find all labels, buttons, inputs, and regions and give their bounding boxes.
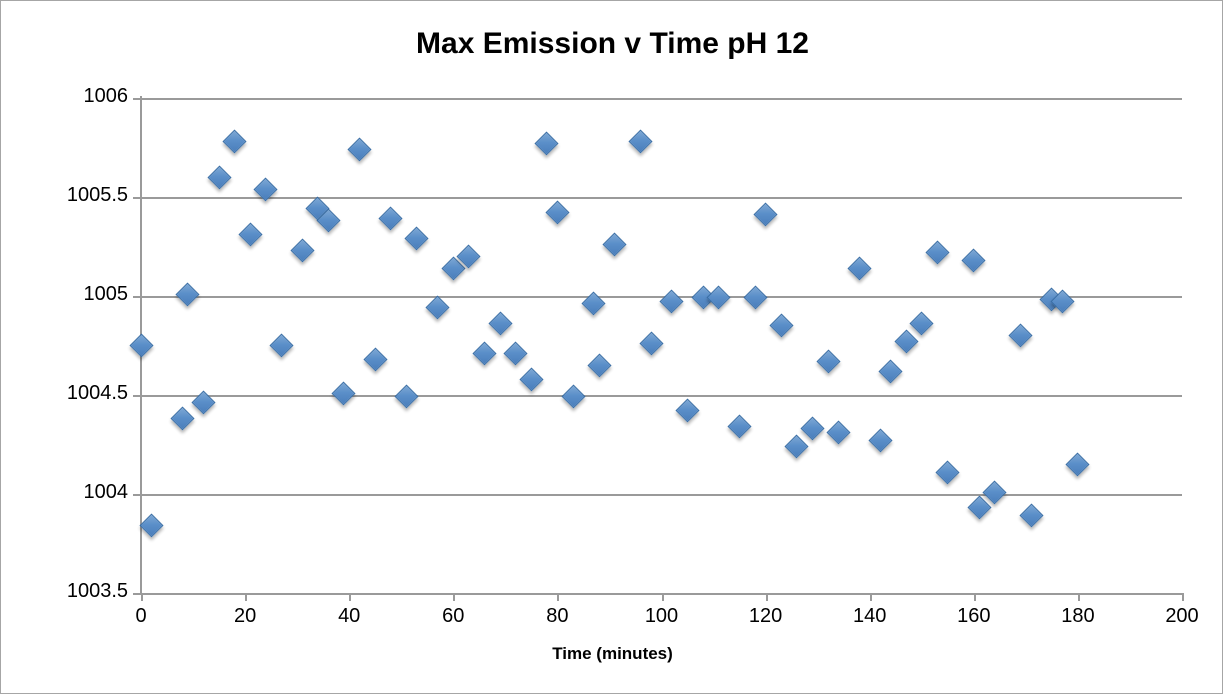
chart-container: Max Emission v Time pH 12 Emission Time … <box>0 0 1223 694</box>
y-axis-tick <box>133 296 141 298</box>
x-axis-tick-label: 180 <box>1038 605 1118 628</box>
x-axis-tick-label: 160 <box>934 605 1014 628</box>
data-point-marker <box>561 385 585 409</box>
x-axis-tick <box>141 593 143 601</box>
data-point-marker <box>603 232 627 256</box>
data-point-marker <box>910 312 934 336</box>
data-point-marker <box>363 347 387 371</box>
data-point-marker <box>868 429 892 453</box>
data-point-marker <box>728 415 752 439</box>
x-axis-tick-label: 40 <box>309 605 389 628</box>
y-axis-tick-label: 1006 <box>18 85 128 108</box>
data-point-marker <box>207 165 231 189</box>
gridline-horizontal <box>141 98 1182 100</box>
plot-area <box>141 98 1182 593</box>
data-point-marker <box>894 330 918 354</box>
data-point-marker <box>847 256 871 280</box>
data-point-marker <box>405 227 429 251</box>
data-point-marker <box>1019 504 1043 528</box>
data-point-marker <box>488 312 512 336</box>
x-axis-tick-label: 100 <box>622 605 702 628</box>
data-point-marker <box>519 367 543 391</box>
x-axis-tick <box>766 593 768 601</box>
x-axis-tick <box>662 593 664 601</box>
x-axis-tick <box>349 593 351 601</box>
y-axis-tick-label: 1003.5 <box>18 580 128 603</box>
y-axis-tick <box>133 593 141 595</box>
chart-title: Max Emission v Time pH 12 <box>1 27 1223 61</box>
y-axis-tick <box>133 98 141 100</box>
data-point-marker <box>743 286 767 310</box>
data-point-marker <box>936 460 960 484</box>
data-point-marker <box>962 248 986 272</box>
data-point-marker <box>587 353 611 377</box>
data-point-marker <box>800 417 824 441</box>
data-point-marker <box>129 333 153 357</box>
data-point-marker <box>675 399 699 423</box>
x-axis-tick <box>870 593 872 601</box>
data-point-marker <box>535 132 559 156</box>
x-axis-tick-label: 80 <box>517 605 597 628</box>
x-axis-tick <box>245 593 247 601</box>
data-point-marker <box>769 314 793 338</box>
data-point-marker <box>290 238 314 262</box>
data-point-marker <box>545 201 569 225</box>
x-axis-tick <box>453 593 455 601</box>
x-axis-tick <box>1182 593 1184 601</box>
data-point-marker <box>426 296 450 320</box>
data-point-marker <box>707 286 731 310</box>
data-point-marker <box>826 421 850 445</box>
data-point-marker <box>171 407 195 431</box>
data-point-marker <box>176 282 200 306</box>
x-axis-tick-label: 20 <box>205 605 285 628</box>
y-axis-tick-label: 1005.5 <box>18 184 128 207</box>
data-point-marker <box>660 290 684 314</box>
data-point-marker <box>332 381 356 405</box>
data-point-marker <box>1066 452 1090 476</box>
data-point-marker <box>925 240 949 264</box>
data-point-marker <box>472 341 496 365</box>
x-axis-tick <box>1078 593 1080 601</box>
x-axis-tick-label: 60 <box>413 605 493 628</box>
data-point-marker <box>983 480 1007 504</box>
x-axis-title: Time (minutes) <box>1 644 1223 664</box>
gridline-horizontal <box>141 197 1182 199</box>
data-point-marker <box>504 341 528 365</box>
gridline-horizontal <box>141 494 1182 496</box>
x-axis-tick <box>557 593 559 601</box>
data-point-marker <box>379 207 403 231</box>
data-point-marker <box>270 333 294 357</box>
data-point-marker <box>754 203 778 227</box>
data-point-marker <box>878 359 902 383</box>
data-point-marker <box>816 349 840 373</box>
data-point-marker <box>785 434 809 458</box>
x-axis-tick-label: 140 <box>830 605 910 628</box>
data-point-marker <box>139 514 163 538</box>
y-axis-tick-label: 1005 <box>18 283 128 306</box>
data-point-marker <box>394 385 418 409</box>
y-axis-tick-label: 1004 <box>18 481 128 504</box>
y-axis-tick <box>133 197 141 199</box>
x-axis-tick-label: 200 <box>1142 605 1222 628</box>
y-axis-tick-label: 1004.5 <box>18 382 128 405</box>
data-point-marker <box>967 496 991 520</box>
y-axis-tick <box>133 395 141 397</box>
x-axis-tick-label: 0 <box>101 605 181 628</box>
data-point-marker <box>238 223 262 247</box>
data-point-marker <box>223 130 247 154</box>
data-point-marker <box>629 130 653 154</box>
gridline-horizontal <box>141 395 1182 397</box>
y-axis-tick <box>133 494 141 496</box>
data-point-marker <box>639 331 663 355</box>
data-point-marker <box>348 137 372 161</box>
x-axis-tick <box>974 593 976 601</box>
x-axis-tick-label: 120 <box>726 605 806 628</box>
data-point-marker <box>1009 324 1033 348</box>
